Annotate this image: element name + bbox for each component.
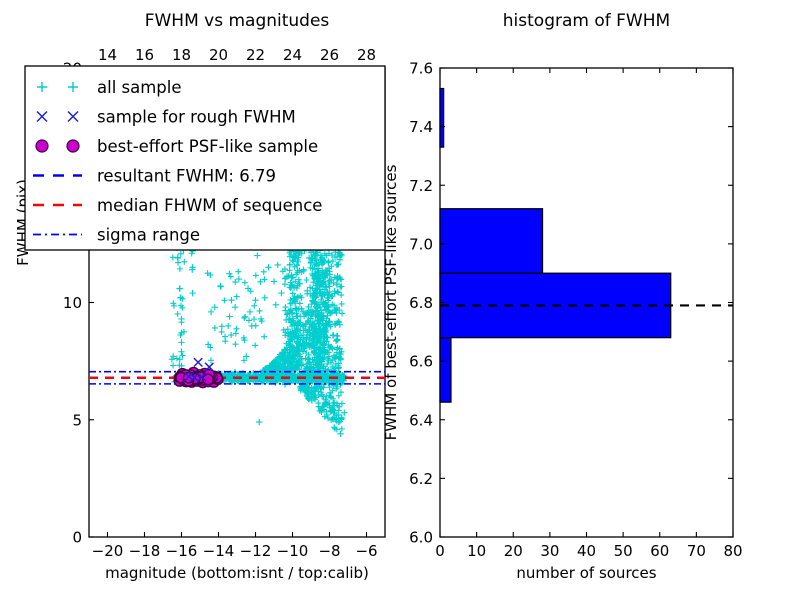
y-ticklabel: 7.2: [409, 177, 433, 195]
legend-circle-marker: [36, 140, 48, 152]
histogram-bar[interactable]: [440, 209, 543, 273]
y-ticklabel: 5: [72, 411, 82, 429]
legend-label: median FHWM of sequence: [97, 196, 322, 215]
x-ticklabel: 20: [504, 542, 523, 560]
x-ticklabel: 0: [435, 542, 445, 560]
scatter-title: FWHM vs magnitudes: [145, 11, 330, 31]
x-ticklabel: 80: [723, 542, 742, 560]
legend-label: best-effort PSF-like sample: [97, 137, 318, 156]
x-ticklabel: 30: [540, 542, 559, 560]
histogram-bar[interactable]: [440, 89, 444, 148]
legend-label: sample for rough FWHM: [97, 108, 296, 127]
x-ticklabel: 40: [577, 542, 596, 560]
x-ticklabel-top: 22: [246, 46, 265, 64]
legend-label: all sample: [97, 78, 182, 97]
x-ticklabel-bottom: −12: [240, 542, 272, 560]
x-ticklabel-top: 24: [283, 46, 302, 64]
y-ticklabel: 6.0: [409, 529, 433, 547]
matplotlib-figure: FWHM vs magnitudes−20−18−16−14−12−10−8−6…: [0, 0, 800, 600]
y-ticklabel: 6.2: [409, 470, 433, 488]
x-ticklabel-bottom: −10: [277, 542, 309, 560]
x-ticklabel-bottom: −16: [166, 542, 198, 560]
x-ticklabel-top: 14: [98, 46, 117, 64]
y-ticklabel: 10: [63, 294, 82, 312]
x-ticklabel: 10: [467, 542, 486, 560]
x-ticklabel-top: 20: [209, 46, 228, 64]
histogram-xlabel: number of sources: [516, 564, 656, 582]
legend-label: resultant FWHM: 6.79: [97, 167, 276, 186]
legend-label: sigma range: [97, 226, 200, 245]
scatter-xlabel: magnitude (bottom:isnt / top:calib): [105, 564, 369, 582]
x-ticklabel-bottom: −6: [355, 542, 377, 560]
histogram-title: histogram of FWHM: [503, 11, 670, 31]
y-ticklabel: 7.4: [409, 118, 433, 136]
legend-circle-marker: [67, 140, 79, 152]
y-ticklabel: 6.6: [409, 353, 433, 371]
y-ticklabel: 6.4: [409, 411, 433, 429]
x-ticklabel-top: 28: [357, 46, 376, 64]
figure-canvas: FWHM vs magnitudes−20−18−16−14−12−10−8−6…: [0, 0, 800, 600]
legend-box: [25, 66, 385, 250]
x-ticklabel-top: 16: [135, 46, 154, 64]
y-ticklabel: 7.6: [409, 60, 433, 78]
legend[interactable]: all samplesample for rough FWHMbest-effo…: [25, 66, 385, 250]
x-ticklabel-bottom: −18: [129, 542, 161, 560]
x-ticklabel: 70: [687, 542, 706, 560]
x-ticklabel-bottom: −14: [203, 542, 235, 560]
y-ticklabel: 6.8: [409, 294, 433, 312]
histogram-bar[interactable]: [440, 338, 451, 402]
x-ticklabel: 60: [650, 542, 669, 560]
x-ticklabel-bottom: −20: [92, 542, 124, 560]
y-ticklabel: 0: [72, 529, 82, 547]
x-ticklabel-top: 26: [320, 46, 339, 64]
y-ticklabel: 7.0: [409, 235, 433, 253]
x-ticklabel-top: 18: [172, 46, 191, 64]
x-ticklabel: 50: [614, 542, 633, 560]
x-ticklabel-bottom: −8: [318, 542, 340, 560]
